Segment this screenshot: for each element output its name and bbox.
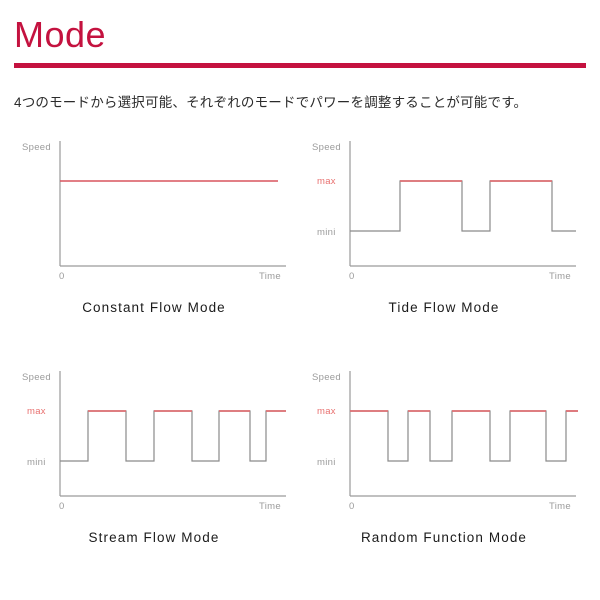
chart-cell-stream-flow: Speed max mini 0 Time Stream Flow Mode — [14, 365, 304, 540]
mode-page: Mode 4つのモードから選択可能、それぞれのモードでパワーを調整することが可能… — [0, 0, 600, 600]
tide-flow-svg: Speed max mini 0 Time — [304, 135, 584, 280]
y-axis-max-label: max — [317, 176, 336, 187]
x-axis-time-label: Time — [259, 271, 281, 280]
x-axis-origin-label: 0 — [59, 501, 65, 510]
x-axis-origin-label: 0 — [59, 271, 65, 280]
chart-cell-tide-flow: Speed max mini 0 Time Tide Flow Mode — [304, 135, 594, 310]
chart-cell-constant-flow: Speed 0 Time Constant Flow Mode — [14, 135, 304, 310]
y-axis-max-label: max — [317, 406, 336, 417]
stream-flow-svg: Speed max mini 0 Time — [14, 365, 294, 510]
x-axis-time-label: Time — [549, 271, 571, 280]
y-axis-speed-label: Speed — [312, 142, 341, 153]
chart-caption-random-function: Random Function Mode — [304, 530, 584, 545]
chart-tide-flow: Speed max mini 0 Time — [304, 135, 584, 280]
random-function-svg: Speed max mini 0 Time — [304, 365, 584, 510]
speed-trace-structure — [350, 411, 578, 461]
chart-caption-tide-flow: Tide Flow Mode — [304, 300, 584, 315]
chart-random-function: Speed max mini 0 Time — [304, 365, 584, 510]
x-axis-origin-label: 0 — [349, 501, 355, 510]
speed-trace-structure — [60, 411, 286, 461]
chart-caption-stream-flow: Stream Flow Mode — [14, 530, 294, 545]
chart-cell-random-function: Speed max mini 0 Time Random Function Mo… — [304, 365, 594, 540]
y-axis-speed-label: Speed — [22, 372, 51, 383]
y-axis-mini-label: mini — [317, 457, 336, 468]
mode-chart-grid: Speed 0 Time Constant Flow Mode Speed ma… — [14, 135, 586, 540]
chart-constant-flow: Speed 0 Time — [14, 135, 294, 280]
x-axis-time-label: Time — [259, 501, 281, 510]
chart-stream-flow: Speed max mini 0 Time — [14, 365, 294, 510]
y-axis-mini-label: mini — [317, 227, 336, 238]
page-title: Mode — [14, 0, 586, 53]
x-axis-time-label: Time — [549, 501, 571, 510]
y-axis-speed-label: Speed — [22, 142, 51, 153]
y-axis-speed-label: Speed — [312, 372, 341, 383]
chart-caption-constant-flow: Constant Flow Mode — [14, 300, 294, 315]
y-axis-max-label: max — [27, 406, 46, 417]
title-divider — [14, 63, 586, 68]
x-axis-origin-label: 0 — [349, 271, 355, 280]
speed-trace-structure — [350, 181, 576, 231]
y-axis-mini-label: mini — [27, 457, 46, 468]
intro-description: 4つのモードから選択可能、それぞれのモードでパワーを調整することが可能です。 — [14, 93, 586, 113]
constant-flow-svg: Speed 0 Time — [14, 135, 294, 280]
